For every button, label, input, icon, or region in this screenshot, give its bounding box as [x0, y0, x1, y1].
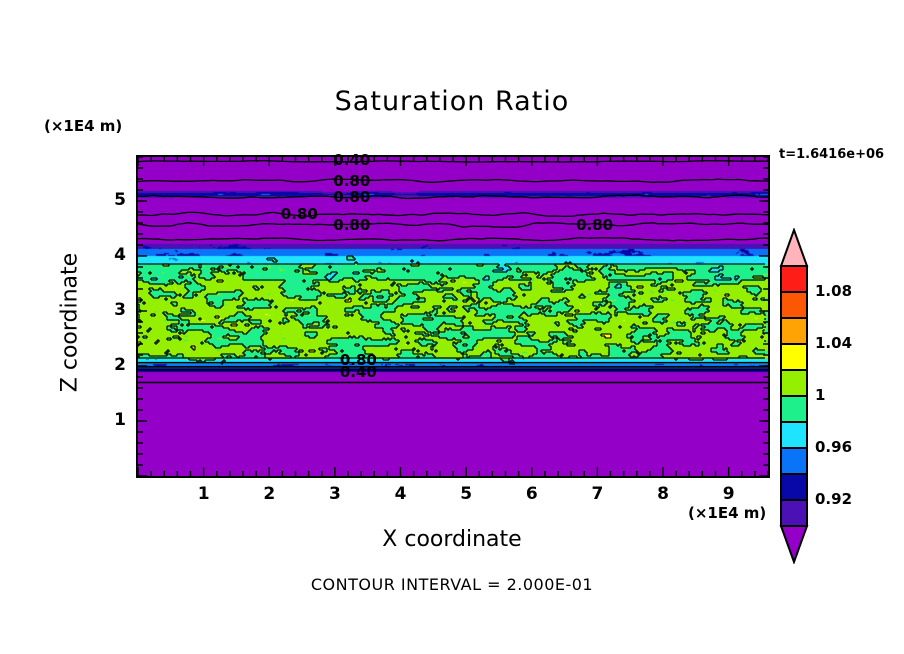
x-axis-title: X coordinate [0, 527, 904, 552]
y-axis-title: Z coordinate [58, 213, 83, 433]
colorbar-tick-label: 1.04 [815, 334, 852, 352]
colorbar-under-arrow [781, 526, 807, 562]
colorbar-band [781, 344, 807, 370]
contour-plot-area[interactable] [136, 155, 770, 478]
y-tick-label: 3 [96, 300, 126, 320]
colorbar-band [781, 422, 807, 448]
time-annotation: t=1.6416e+06 [779, 147, 884, 162]
x-tick-label: 4 [386, 484, 416, 504]
y-tick-label: 4 [96, 245, 126, 265]
colorbar-band [781, 396, 807, 422]
colorbar-band [781, 266, 807, 292]
y-tick-label: 1 [96, 410, 126, 430]
contour-line [138, 223, 768, 228]
x-tick-label: 1 [189, 484, 219, 504]
x-tick-label: 2 [254, 484, 284, 504]
x-tick-label: 8 [648, 484, 678, 504]
x-tick-label: 7 [582, 484, 612, 504]
y-axis-unit-label: (×1E4 m) [44, 117, 122, 135]
contour-line [138, 179, 768, 182]
contour-line [138, 195, 768, 199]
colorbar-swatches[interactable] [779, 228, 809, 564]
y-tick-label: 5 [96, 190, 126, 210]
colorbar-tick-label: 1.08 [815, 282, 852, 300]
colorbar-band [781, 292, 807, 318]
colorbar-band [781, 500, 807, 526]
contour-interval-caption: CONTOUR INTERVAL = 2.000E-01 [0, 575, 904, 594]
x-tick-label: 3 [320, 484, 350, 504]
contour-label: 0.80 [333, 188, 370, 206]
contour-label: 0.80 [281, 205, 318, 223]
contour-label: 0.80 [576, 216, 613, 234]
x-tick-label: 9 [714, 484, 744, 504]
x-tick-label: 6 [517, 484, 547, 504]
x-axis-unit-label: (×1E4 m) [688, 504, 766, 522]
x-tick-label: 5 [451, 484, 481, 504]
contour-lines-overlay [138, 157, 768, 476]
colorbar-tick-label: 0.96 [815, 438, 852, 456]
contour-line [138, 238, 768, 241]
contour-line [138, 263, 766, 359]
colorbar-band [781, 474, 807, 500]
colorbar-tick-label: 1 [815, 386, 825, 404]
contour-label: 0.40 [340, 363, 377, 381]
contour-line [138, 212, 768, 216]
colorbar-tick-label: 0.92 [815, 490, 852, 508]
colorbar-over-arrow [781, 230, 807, 266]
page-title: Saturation Ratio [0, 86, 904, 117]
colorbar-band [781, 370, 807, 396]
y-tick-label: 2 [96, 355, 126, 375]
colorbar-band [781, 318, 807, 344]
colorbar-band [781, 448, 807, 474]
contour-label: 0.80 [333, 216, 370, 234]
colorbar[interactable]: 1.081.0410.960.92 [779, 228, 809, 568]
contour-label: 0.40 [333, 151, 370, 169]
